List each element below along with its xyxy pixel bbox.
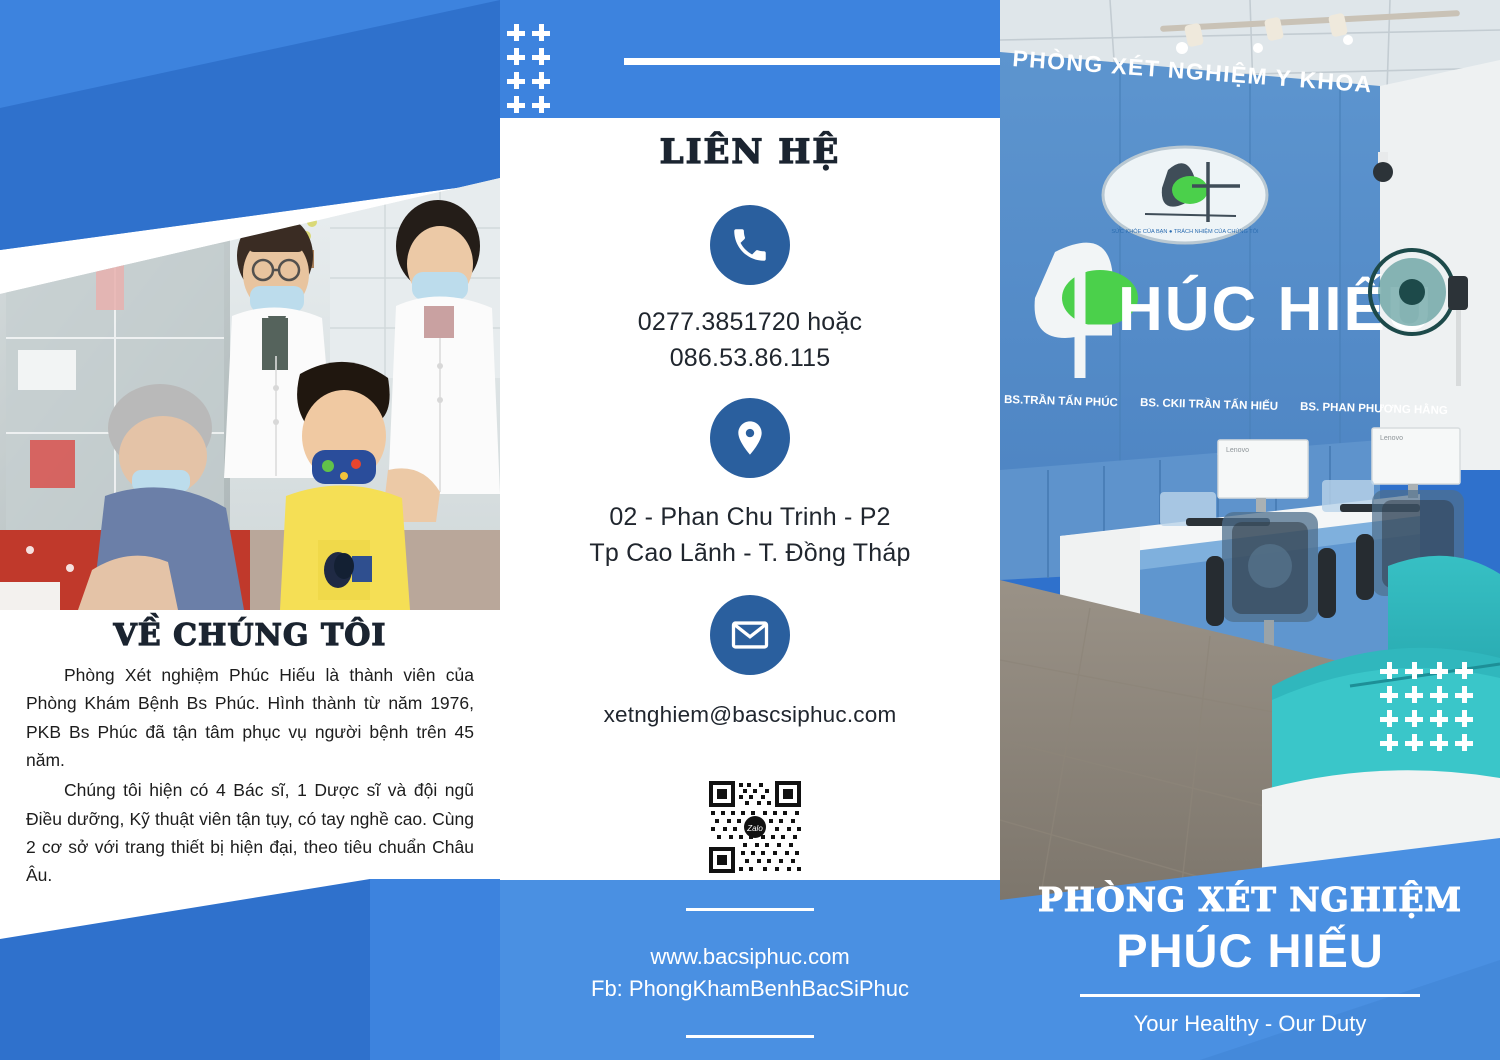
about-paragraph-1: Phòng Xét nghiệm Phúc Hiếu là thành viên… [26, 661, 474, 774]
footer-rule [1080, 994, 1420, 997]
facebook-link[interactable]: Fb: PhongKhamBenhBacSiPhuc [500, 973, 1000, 1005]
plus-grid [1378, 660, 1478, 756]
links-rule-bottom [686, 1035, 814, 1038]
panel-left: VỀ CHÚNG TÔI Phòng Xét nghiệm Phúc Hiếu … [0, 0, 500, 1060]
brand-name: PHÚC HIẾU [1000, 923, 1500, 978]
about-section: VỀ CHÚNG TÔI Phòng Xét nghiệm Phúc Hiếu … [0, 618, 500, 890]
contact-phone-block: 0277.3851720 hoặc 086.53.86.115 [500, 205, 1000, 376]
right-footer: PHÒNG XÉT NGHIỆM PHÚC HIẾU Your Healthy … [1000, 880, 1500, 1037]
contact-title: LIÊN HỆ [500, 132, 1000, 172]
panel-right: PHÒNG XÉT NGHIỆM Y KHOA SỨC KHỎE CỦA BẠN… [1000, 0, 1500, 1060]
map-pin-icon [710, 398, 790, 478]
middle-top-white-rule [624, 58, 1000, 65]
plus-pattern-right [1378, 660, 1478, 756]
phone-line-1[interactable]: 0277.3851720 hoặc [500, 305, 1000, 341]
website-link[interactable]: www.bacsiphuc.com [500, 941, 1000, 973]
address-line-1: 02 - Phan Chu Trinh - P2 [500, 500, 1000, 536]
lab-label: PHÒNG XÉT NGHIỆM [1000, 880, 1500, 919]
monitor-brand-right: Lenovo [1380, 435, 1403, 442]
phone-line-2[interactable]: 086.53.86.115 [500, 341, 1000, 377]
phone-icon [710, 205, 790, 285]
left-bottom-wedge [0, 855, 500, 1060]
plus-pattern-top [500, 22, 555, 118]
qr-code-zalo[interactable]: Zalo [703, 775, 807, 879]
monitor-brand-left: Lenovo [1226, 447, 1249, 454]
about-title: VỀ CHÚNG TÔI [26, 618, 474, 653]
contact-address-block: 02 - Phan Chu Trinh - P2 Tp Cao Lãnh - T… [500, 398, 1000, 571]
clinic-staff-photo [0, 178, 500, 610]
contact-email-block: xetnghiem@bascsiphuc.com [500, 595, 1000, 731]
brochure-page: VỀ CHÚNG TÔI Phòng Xét nghiệm Phúc Hiếu … [0, 0, 1500, 1060]
svg-text:Zalo: Zalo [746, 824, 763, 833]
email-address[interactable]: xetnghiem@bascsiphuc.com [500, 699, 1000, 731]
lab-interior-photo: PHÒNG XÉT NGHIỆM Y KHOA SỨC KHỎE CỦA BẠN… [1000, 0, 1500, 900]
panel-middle: LIÊN HỆ 0277.3851720 hoặc 086.53.86.115 … [500, 0, 1000, 1060]
envelope-icon [710, 595, 790, 675]
plus-grid [500, 22, 555, 118]
links-rule-top [686, 908, 814, 911]
brand-tagline: Your Healthy - Our Duty [1000, 1011, 1500, 1037]
middle-bottom-blue-band: www.bacsiphuc.com Fb: PhongKhamBenhBacSi… [500, 880, 1000, 1060]
address-line-2: Tp Cao Lãnh - T. Đồng Tháp [500, 536, 1000, 572]
svg-text:SỨC KHỎE CỦA BẠN ● TRÁCH NHI: SỨC KHỎE CỦA BẠN ● TRÁCH NHIỆM CỦA CHÚNG… [1111, 227, 1259, 235]
